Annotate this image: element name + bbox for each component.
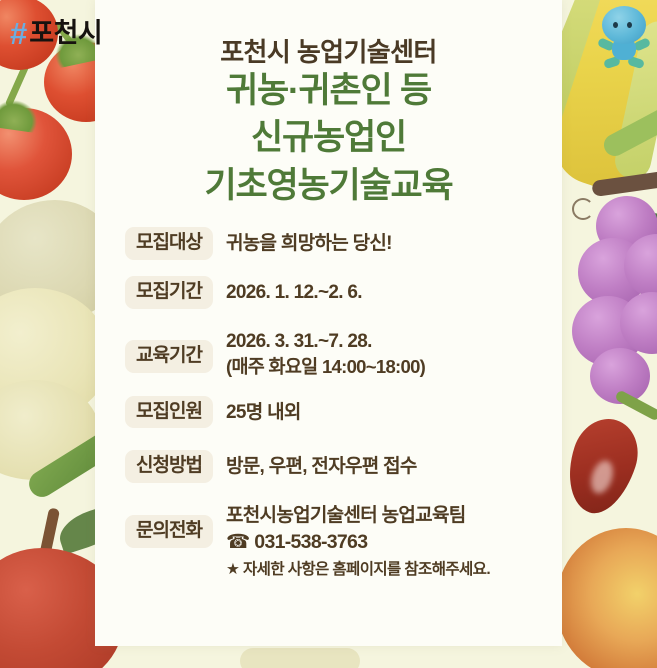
info-value-education-period: 2026. 3. 31.~7. 28. (매주 화요일 14:00~18:00) <box>213 325 548 380</box>
contact-phone-number: ☎ 031-538-3763 <box>226 529 548 555</box>
grape-icon <box>624 234 657 298</box>
info-row-education-period: 교육기간 2026. 3. 31.~7. 28. (매주 화요일 14:00~1… <box>125 325 548 380</box>
info-label-contact: 문의전화 <box>125 515 213 548</box>
mascot-arm-icon <box>633 37 651 52</box>
leaf-icon <box>600 98 657 160</box>
info-row-application-period: 모집기간 2026. 1. 12.~2. 6. <box>125 276 548 309</box>
grape-stem-icon <box>591 171 657 197</box>
grape-icon <box>620 292 657 354</box>
tomato-icon <box>0 108 72 200</box>
program-title-line-1: 귀농·귀촌인 등 <box>95 67 562 115</box>
mascot-leg-icon <box>603 56 621 70</box>
info-label-capacity: 모집인원 <box>125 396 213 429</box>
grape-tendril-icon <box>572 198 594 220</box>
info-row-application-method: 신청방법 방문, 우편, 전자우편 접수 <box>125 450 548 483</box>
grape-icon <box>590 348 650 404</box>
info-row-capacity: 모집인원 25명 내외 <box>125 396 548 429</box>
mascot-eye-icon <box>613 22 618 28</box>
content-card: 포천시 농업기술센터 귀농·귀촌인 등 신규농업인 기초영농기술교육 모집대상 … <box>95 0 562 646</box>
leaf-icon <box>240 648 360 668</box>
city-logo-label: 포천시 <box>29 20 102 47</box>
corn-husk-icon <box>612 18 657 182</box>
potato-icon <box>0 380 100 480</box>
info-value-contact: 포천시농업기술센터 농업교육팀 ☎ 031-538-3763 ★ 자세한 사항은… <box>213 499 548 581</box>
info-value-capacity: 25명 내외 <box>213 396 548 426</box>
info-row-contact: 문의전화 포천시농업기술센터 농업교육팀 ☎ 031-538-3763 ★ 자세… <box>125 499 548 581</box>
title-block: 포천시 농업기술센터 귀농·귀촌인 등 신규농업인 기초영농기술교육 <box>95 0 562 209</box>
mascot-eye-icon <box>627 22 632 28</box>
program-title-line-3: 기초영농기술교육 <box>95 162 562 210</box>
info-label-application-period: 모집기간 <box>125 276 213 309</box>
grape-icon <box>572 296 644 366</box>
education-period-dates: 2026. 3. 31.~7. 28. <box>226 331 372 352</box>
contact-team-name: 포천시농업기술센터 농업교육팀 <box>226 505 466 526</box>
info-value-application-period: 2026. 1. 12.~2. 6. <box>213 276 548 306</box>
program-title-line-2: 신규농업인 <box>95 114 562 162</box>
chili-stalk-icon <box>614 389 657 421</box>
info-label-education-period: 교육기간 <box>125 340 213 373</box>
hashtag-icon: # <box>10 18 27 49</box>
apple-stem-icon <box>39 507 60 558</box>
grape-icon <box>578 238 648 306</box>
education-period-schedule: (매주 화요일 14:00~18:00) <box>226 355 548 380</box>
city-logo: # 포천시 <box>10 18 102 49</box>
tomato-calyx-icon <box>0 97 40 133</box>
info-row-target: 모집대상 귀농을 희망하는 당신! <box>125 227 548 260</box>
chili-pepper-icon <box>557 410 648 521</box>
organization-title: 포천시 농업기술센터 <box>95 38 562 67</box>
mascot-arm-icon <box>597 37 615 52</box>
info-value-target: 귀농을 희망하는 당신! <box>213 227 548 257</box>
mascot-body-icon <box>612 38 636 60</box>
grape-icon <box>596 196 657 256</box>
potato-icon <box>0 288 110 420</box>
info-list: 모집대상 귀농을 희망하는 당신! 모집기간 2026. 1. 12.~2. 6… <box>95 227 562 581</box>
mascot-character-icon <box>596 6 652 70</box>
grape-leaf-icon <box>615 205 657 265</box>
mascot-head-icon <box>602 6 646 44</box>
poster-root: # 포천시 포천시 농업기술센터 귀농·귀촌인 등 신규농업인 기초영농기술교육… <box>0 0 657 668</box>
mascot-leg-icon <box>627 56 645 70</box>
persimmon-icon <box>556 528 657 668</box>
info-label-target: 모집대상 <box>125 227 213 260</box>
info-label-application-method: 신청방법 <box>125 450 213 483</box>
chili-highlight-icon <box>587 458 617 497</box>
info-value-application-method: 방문, 우편, 전자우편 접수 <box>213 450 548 480</box>
contact-website-note: ★ 자세한 사항은 홈페이지를 참조해주세요. <box>226 560 548 581</box>
